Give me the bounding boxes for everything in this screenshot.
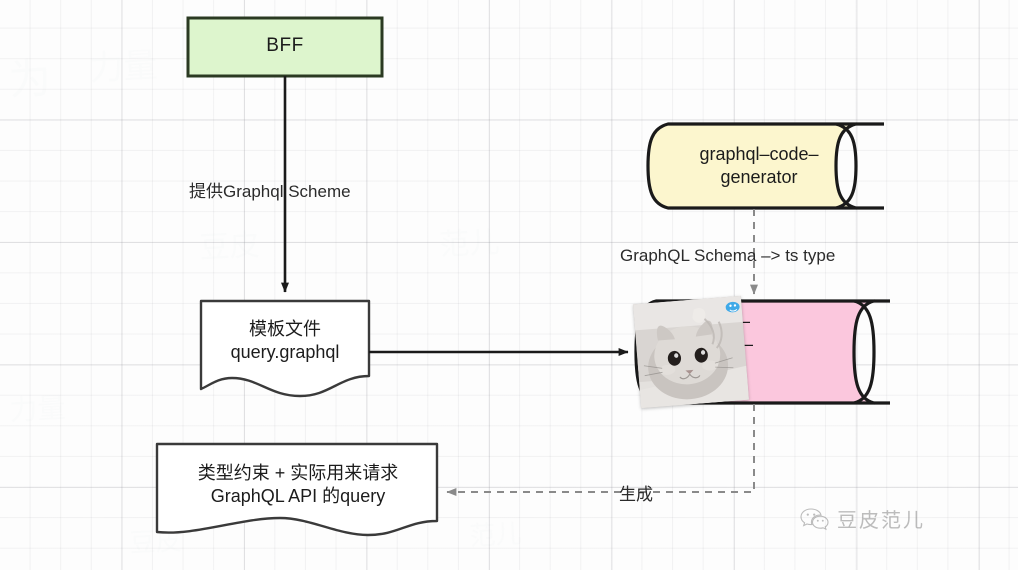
- watermark-text: 豆皮范儿: [837, 504, 925, 533]
- edge-label-provide-schema: 提供Graphql Scheme: [189, 177, 351, 202]
- watermark: 豆皮范儿: [800, 504, 925, 533]
- node-result[interactable]: [157, 444, 437, 535]
- node-template[interactable]: [201, 301, 369, 396]
- edge-label-generate: 生成: [619, 480, 653, 505]
- edge-label-schema-to-ts: GraphQL Schema –> ts type: [620, 246, 835, 266]
- emoji-badge-icon: [725, 300, 741, 314]
- wechat-icon: [800, 507, 830, 531]
- edge-plugin-to-result: [447, 404, 754, 492]
- node-bff[interactable]: [188, 18, 382, 76]
- diagram-canvas: 为 力量 豆皮 范儿 力量 豆皮 范儿: [0, 0, 1018, 570]
- diagram-shapes: [0, 0, 1018, 570]
- cat-photo-sticker[interactable]: [633, 296, 749, 408]
- node-codegen[interactable]: [648, 124, 884, 208]
